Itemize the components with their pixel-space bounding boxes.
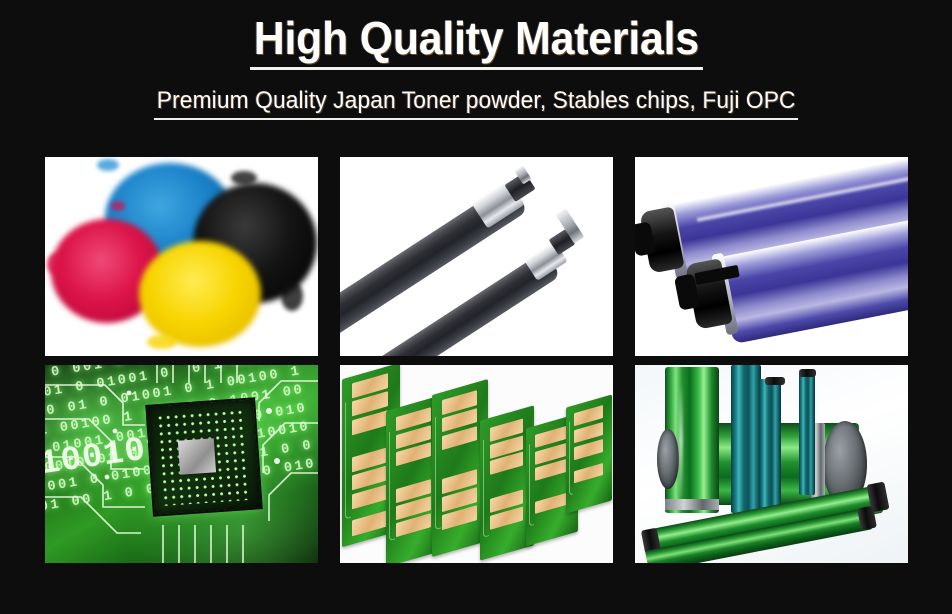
image-cell-magnetic-rollers[interactable]: Two charcoal magnetic developer rollers …	[340, 157, 613, 356]
drum-metal-ring	[665, 499, 719, 510]
page-subtitle: Premium Quality Japan Toner powder, Stab…	[154, 87, 799, 120]
image-cell-green-opc-drums[interactable]: Group of green and teal OPC drum cylinde…	[635, 365, 908, 563]
teal-opc-drum-mid	[759, 379, 781, 513]
image-cell-blue-opc-drums[interactable]: Two blue-violet OPC drums with black gea…	[635, 157, 908, 356]
chip-contact-pad	[574, 463, 603, 484]
chip-trace	[529, 443, 534, 527]
title-container: High Quality Materials	[0, 0, 952, 70]
promo-banner: High Quality Materials Premium Quality J…	[0, 0, 952, 614]
page-title: High Quality Materials	[250, 14, 703, 70]
subtitle-container: Premium Quality Japan Toner powder, Stab…	[0, 70, 952, 120]
bga-chip	[145, 397, 263, 516]
chip-trace	[389, 430, 395, 541]
chip-trace	[435, 415, 441, 530]
powder-speckle	[47, 253, 65, 275]
drum-black-cap	[765, 377, 785, 385]
teal-opc-drum-tall	[731, 365, 761, 513]
image-cell-circuit-chip[interactable]: 1001 0 001 0 0 10010 0100 1 0 1001 0 010…	[45, 365, 318, 563]
chip-die-marking	[178, 438, 216, 474]
chip-contact-pad	[574, 439, 603, 460]
powder-speckle	[147, 335, 177, 349]
teal-opc-drum-thin	[799, 373, 815, 495]
chip-trace	[569, 420, 574, 496]
powder-speckle	[231, 171, 257, 185]
chip-contact-pad	[535, 492, 567, 514]
chip-trace	[345, 400, 351, 519]
drum-metal-end-cap	[657, 429, 679, 489]
powder-speckle	[111, 201, 125, 211]
powder-speckle	[97, 159, 119, 171]
image-cell-toner-chips[interactable]: Array of green toner cartridge chips wit…	[340, 365, 613, 563]
product-image-grid: Four piles of CMYK toner powder on white…	[45, 157, 908, 572]
powder-speckle	[281, 281, 303, 311]
toner-chip	[566, 394, 612, 513]
drum-black-cap	[799, 369, 816, 377]
chip-trace	[483, 438, 488, 538]
drum-specular-highlight	[679, 381, 683, 501]
image-cell-cmyk-toner-powder[interactable]: Four piles of CMYK toner powder on white…	[45, 157, 318, 356]
toner-pile-yellow	[139, 241, 261, 347]
chip-contact-pad	[352, 510, 388, 535]
